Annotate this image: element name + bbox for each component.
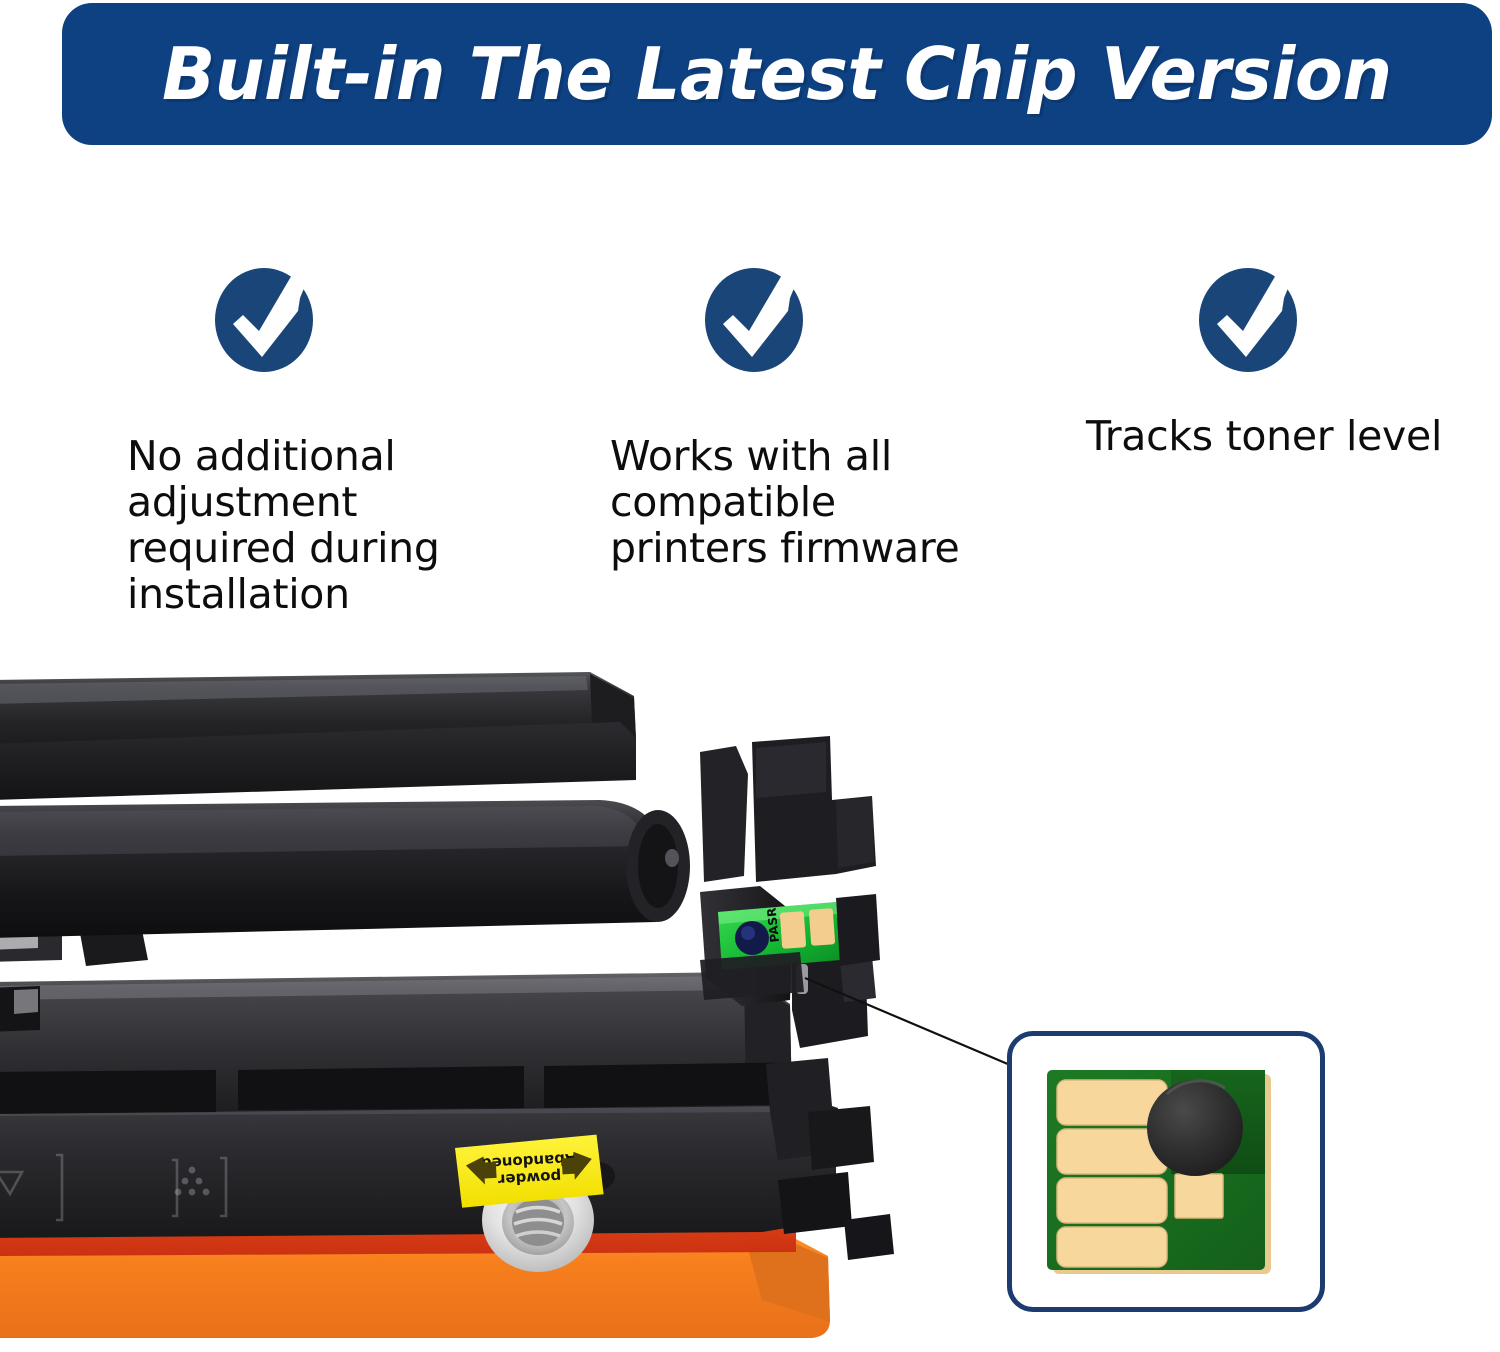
feature-label: Works with all compatible printers firmw… [610,434,1050,572]
chip-detail-callout [1007,1031,1325,1312]
cartridge-lower-body [0,1098,836,1238]
chip-contact-pad [1057,1178,1167,1223]
banner-title: Built-in The Latest Chip Version [162,38,1392,110]
chip-contact-pad [1057,1227,1167,1267]
feature-item-firmware: Works with all compatible printers firmw… [702,262,810,374]
check-circle-icon [212,262,320,374]
feature-item-toner-level: Tracks toner level [1196,262,1304,374]
feature-item-no-adjustment: No additional adjustment required during… [212,262,320,374]
feature-label: Tracks toner level [1086,414,1500,460]
feature-label: No additional adjustment required during… [127,434,557,618]
header-banner: Built-in The Latest Chip Version [62,3,1492,145]
check-circle-icon [1196,262,1304,374]
check-circle-icon [702,262,810,374]
cartridge-right-foot-b [778,1172,852,1234]
cartridge-right-tab-a [700,746,748,882]
chip-detail-illustration [1043,1066,1295,1284]
feature-list: No additional adjustment required during… [0,262,1500,662]
chip-black-component [1147,1080,1243,1176]
chip-square-pad [1175,1174,1223,1218]
